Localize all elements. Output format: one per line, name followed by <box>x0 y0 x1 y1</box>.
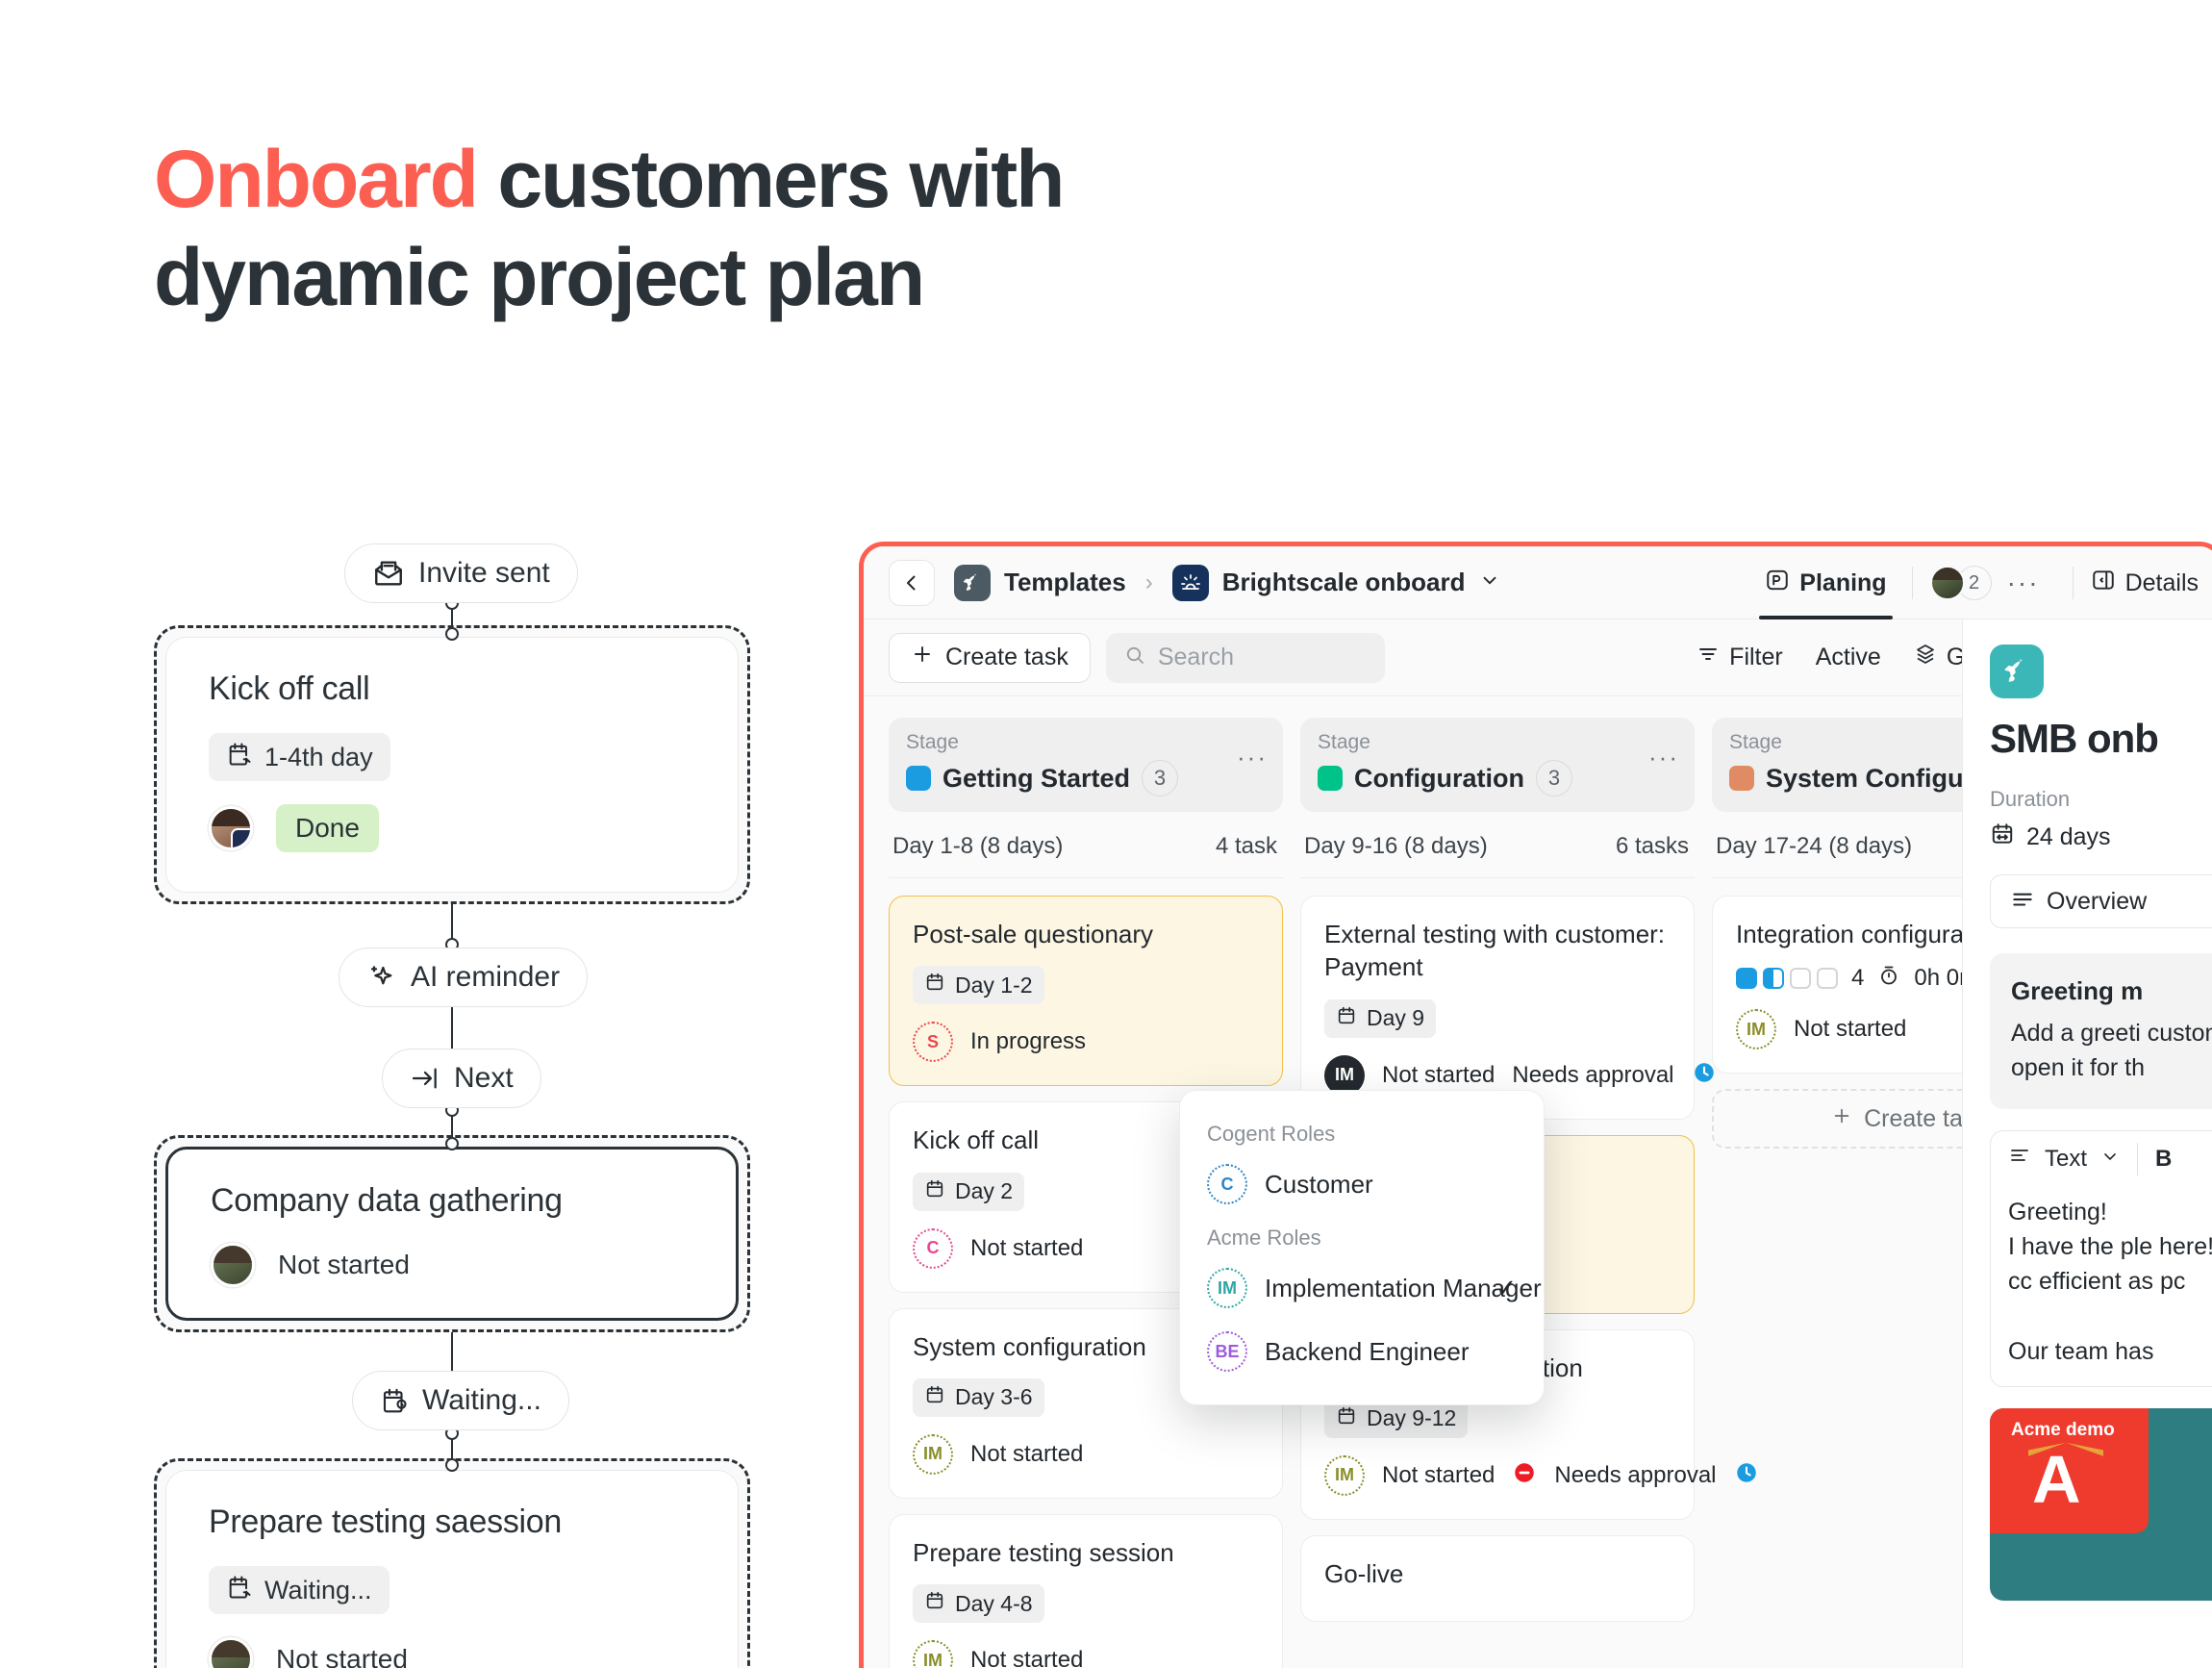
search-icon <box>1123 644 1146 671</box>
task-title: Post-sale questionary <box>913 918 1259 950</box>
task-day-tag: Day 1-2 <box>913 966 1044 1004</box>
calendar-icon <box>924 1384 945 1411</box>
chevron-down-icon[interactable] <box>2100 1146 2120 1173</box>
flow-connector <box>451 904 453 943</box>
task-day-tag: Day 2 <box>913 1173 1024 1211</box>
filter-button[interactable]: Filter <box>1697 643 1783 672</box>
text-icon <box>2008 1144 2031 1174</box>
task-day-text: Day 3-6 <box>955 1384 1033 1410</box>
blocked-icon <box>1512 1460 1537 1490</box>
flow-card-date-tag: Waiting... <box>209 1566 390 1614</box>
avatar[interactable] <box>209 806 253 850</box>
app-topbar: Templates › Brightscale onboard <box>864 546 2212 619</box>
role-avatar[interactable]: S <box>913 1022 953 1062</box>
stage-name: Configuration <box>1354 764 1524 794</box>
more-options-button[interactable]: ··· <box>1992 568 2055 598</box>
stage-count: 3 <box>1142 760 1178 796</box>
breadcrumb-item-templates[interactable]: Templates <box>1004 568 1126 597</box>
role-avatar: BE <box>1207 1331 1247 1372</box>
app-window: Templates › Brightscale onboard <box>859 542 2212 1668</box>
task-card[interactable]: External testing with customer: Payment … <box>1300 896 1695 1120</box>
flow-node <box>445 627 459 641</box>
task-status: Not started <box>1382 1062 1495 1089</box>
flow-card-date-text: Waiting... <box>264 1576 372 1605</box>
task-status: In progress <box>970 1028 1086 1055</box>
stage-name: Getting Started <box>943 764 1130 794</box>
tab-planing[interactable]: Planing <box>1757 546 1894 619</box>
search-input[interactable]: Search <box>1106 633 1385 683</box>
timer-icon <box>1877 964 1900 992</box>
flow-pill-invite-sent[interactable]: Invite sent <box>344 543 578 603</box>
flow-card-title: Company data gathering <box>211 1182 693 1220</box>
subtask-progress <box>1736 968 1838 989</box>
active-filter-button[interactable]: Active <box>1816 644 1881 671</box>
subtask-count: 4 <box>1851 965 1864 992</box>
avatar[interactable] <box>209 1637 253 1668</box>
flow-pill-ai-reminder[interactable]: AI reminder <box>339 948 588 1007</box>
flow-node <box>445 1458 459 1472</box>
breadcrumb: Templates › Brightscale onboard <box>954 565 1500 601</box>
task-status: Not started <box>1382 1462 1495 1489</box>
stage-range: Day 9-16 (8 days) <box>1304 833 1488 860</box>
chevron-down-icon[interactable] <box>1479 569 1500 595</box>
task-footer: IM Not started <box>913 1434 1259 1475</box>
calendar-icon <box>924 972 945 998</box>
panel-right-icon <box>2091 568 2116 599</box>
stage-more-button[interactable]: ··· <box>1648 743 1679 772</box>
details-panel: SMB onb Duration 24 days Overview Greeti… <box>1962 619 2212 1668</box>
role-avatar[interactable]: IM <box>1324 1455 1365 1496</box>
sunrise-icon[interactable] <box>1172 565 1209 601</box>
breadcrumb-item-project[interactable]: Brightscale onboard <box>1222 568 1466 597</box>
task-title: Prepare testing session <box>913 1536 1259 1569</box>
flow-card-date-tag: 1-4th day <box>209 733 390 781</box>
calendar-sync-icon <box>226 1574 253 1607</box>
details-label: Details <box>2125 569 2199 597</box>
flow-diagram: Invite sent Kick off call 1-4th day <box>0 0 789 1668</box>
flow-card-assignee-row: Not started <box>211 1243 693 1287</box>
task-card[interactable]: Go-live <box>1300 1535 1695 1622</box>
create-task-button[interactable]: Create task <box>889 633 1091 683</box>
sparkle-icon <box>366 962 397 993</box>
stage-header[interactable]: Stage Configuration 3 ··· <box>1300 718 1695 812</box>
task-day-text: Day 9-12 <box>1367 1405 1456 1431</box>
role-avatar[interactable]: IM <box>1736 1009 1776 1049</box>
stage-count: 3 <box>1536 760 1572 796</box>
task-footer: S In progress <box>913 1022 1259 1062</box>
duration-label: Duration <box>1990 787 2212 812</box>
flow-card-prepare-testing[interactable]: Prepare testing saession Waiting... Not … <box>165 1470 739 1668</box>
task-approval: Needs approval <box>1512 1062 1673 1089</box>
dropdown-item-label: Backend Engineer <box>1265 1337 1469 1367</box>
plus-icon <box>911 643 934 672</box>
arrow-to-end-icon <box>410 1063 440 1094</box>
stage-label: Stage <box>1318 731 1677 754</box>
calendar-icon <box>1336 1405 1357 1432</box>
rocket-icon <box>1990 644 2044 698</box>
stage-range: Day 17-24 (8 days) <box>1716 833 1912 860</box>
editor-bold-button[interactable]: B <box>2155 1146 2172 1173</box>
task-day-tag: Day 9 <box>1324 999 1436 1038</box>
flow-pill-label: Invite sent <box>418 557 550 590</box>
check-icon: ✓ <box>1496 1274 1517 1303</box>
tab-overview[interactable]: Overview <box>1990 874 2212 928</box>
tab-overview-label: Overview <box>2047 888 2147 916</box>
topbar-actions: Planing 2 ··· Details <box>1757 546 2199 619</box>
attachment-caption: Acme demo <box>2011 1420 2115 1441</box>
flow-card-title: Prepare testing saession <box>209 1504 695 1541</box>
stage-label: Stage <box>906 731 1266 754</box>
role-avatar: IM <box>1207 1268 1247 1308</box>
attachment-preview[interactable]: Acme demo A <box>1990 1408 2212 1601</box>
status-badge: Done <box>276 804 379 852</box>
stage-color-swatch <box>1729 766 1754 791</box>
dropdown-item-label: Customer <box>1265 1170 1373 1200</box>
flow-pill-next[interactable]: Next <box>382 1049 541 1108</box>
editor-style-label[interactable]: Text <box>2045 1146 2087 1173</box>
flow-card-date-text: 1-4th day <box>264 743 373 772</box>
stage-meta: Day 1-8 (8 days) 4 task <box>889 812 1283 878</box>
task-status: Not started <box>1794 1016 1906 1043</box>
stage-task-count: 6 tasks <box>1616 833 1689 860</box>
flow-pill-waiting[interactable]: Waiting... <box>352 1371 569 1430</box>
task-status: Not started <box>970 1441 1083 1468</box>
avatar[interactable] <box>211 1243 255 1287</box>
editor-toolbar: Text B <box>1991 1131 2212 1187</box>
status-text: Not started <box>278 1250 410 1280</box>
dropdown-group-title: Cogent Roles <box>1180 1112 1544 1152</box>
calendar-icon <box>1336 1005 1357 1032</box>
back-button[interactable] <box>889 560 935 606</box>
task-title: Go-live <box>1324 1557 1671 1590</box>
task-card[interactable]: Prepare testing session Day 4-8 IM Not s… <box>889 1514 1283 1668</box>
flow-pill-label: Next <box>454 1062 514 1095</box>
rich-text-editor[interactable]: Text B Greeting! I have the ple here!We'… <box>1990 1130 2212 1387</box>
flow-pill-label: Waiting... <box>422 1384 541 1417</box>
filter-label: Filter <box>1729 644 1783 671</box>
note-body: Add a greeti customer. It open it for th <box>2011 1016 2212 1086</box>
task-status: Not started <box>970 1235 1083 1262</box>
create-task-label: Create task <box>945 644 1068 671</box>
task-day-text: Day 4-8 <box>955 1591 1033 1617</box>
stage-range: Day 1-8 (8 days) <box>892 833 1063 860</box>
flow-node <box>445 1137 459 1150</box>
divider <box>2073 567 2074 599</box>
search-placeholder: Search <box>1158 644 1234 671</box>
duration-value: 24 days <box>2026 823 2111 851</box>
list-icon <box>2010 886 2035 918</box>
details-button[interactable]: Details <box>2091 568 2199 599</box>
flow-card-kick-off-call[interactable]: Kick off call 1-4th day Done <box>165 637 739 893</box>
flow-pill-label: AI reminder <box>411 961 560 994</box>
task-approval: Needs approval <box>1554 1462 1716 1489</box>
stage-color-swatch <box>906 766 931 791</box>
calendar-icon <box>924 1178 945 1205</box>
mail-open-icon <box>372 557 405 590</box>
task-day-text: Day 2 <box>955 1178 1013 1204</box>
role-avatar[interactable]: IM <box>913 1640 953 1668</box>
members-group[interactable]: 2 <box>1930 566 1992 600</box>
task-title: External testing with customer: Payment <box>1324 918 1671 984</box>
planning-icon <box>1765 568 1790 599</box>
flow-card-company-data-gathering[interactable]: Company data gathering Not started <box>165 1147 739 1321</box>
role-avatar[interactable]: IM <box>913 1434 953 1475</box>
status-text: Not started <box>276 1644 408 1668</box>
stage-task-count: 4 task <box>1216 833 1277 860</box>
stage-header[interactable]: Stage Getting Started 3 ··· <box>889 718 1283 812</box>
attachment-logo-letter: A <box>2032 1453 2081 1506</box>
divider <box>2137 1143 2138 1175</box>
rocket-icon[interactable] <box>954 565 991 601</box>
dropdown-item-backend-engineer[interactable]: BE Backend Engineer <box>1180 1320 1544 1383</box>
task-footer: IM Not started Needs approval <box>1324 1455 1671 1496</box>
plus-icon <box>1831 1105 1852 1133</box>
calendar-icon <box>924 1590 945 1617</box>
task-footer: IM Not started <box>913 1640 1259 1668</box>
calendar-sync-icon <box>226 741 253 774</box>
details-panel-title: SMB onb <box>1990 716 2212 762</box>
task-day-tag: Day 3-6 <box>913 1378 1044 1417</box>
note-title: Greeting m <box>2011 976 2212 1006</box>
role-avatar: C <box>1207 1164 1247 1204</box>
flow-connector <box>451 1332 453 1371</box>
task-card[interactable]: Post-sale questionary Day 1-2 S In progr… <box>889 896 1283 1086</box>
task-status: Not started <box>970 1647 1083 1668</box>
chevron-left-icon <box>900 571 923 594</box>
stage-meta: Day 9-16 (8 days) 6 tasks <box>1300 812 1695 878</box>
editor-content[interactable]: Greeting! I have the ple here!We're cc e… <box>1991 1187 2212 1386</box>
active-label: Active <box>1816 644 1881 671</box>
flow-card-title: Kick off call <box>209 670 695 708</box>
flow-card-assignee-row: Done <box>209 804 695 852</box>
breadcrumb-separator: › <box>1145 569 1153 596</box>
task-day-text: Day 1-2 <box>955 973 1033 998</box>
dropdown-item-implementation-manager[interactable]: IM Implementation Manager ✓ <box>1180 1256 1544 1320</box>
stage-more-button[interactable]: ··· <box>1237 743 1268 772</box>
note-block: Greeting m Add a greeti customer. It ope… <box>1990 953 2212 1109</box>
calendar-clock-icon <box>380 1386 409 1415</box>
divider <box>1912 567 1913 599</box>
layers-icon <box>1914 643 1937 672</box>
avatar <box>1930 566 1965 600</box>
role-dropdown-menu[interactable]: Cogent Roles C Customer Acme Roles IM Im… <box>1179 1090 1545 1405</box>
filter-icon <box>1697 643 1720 672</box>
flow-connector <box>451 1007 453 1049</box>
task-day-tag: Day 4-8 <box>913 1584 1044 1623</box>
dropdown-item-customer[interactable]: C Customer <box>1180 1152 1544 1216</box>
role-avatar[interactable]: C <box>913 1228 953 1269</box>
stage-color-swatch <box>1318 766 1343 791</box>
calendar-range-icon <box>1990 821 2015 853</box>
page-root: Onboard customers with dynamic project p… <box>0 0 2212 1668</box>
duration-value-row: 24 days <box>1990 821 2212 853</box>
flow-card-assignee-row: Not started <box>209 1637 695 1668</box>
dropdown-group-title: Acme Roles <box>1180 1216 1544 1256</box>
tab-planing-label: Planing <box>1799 569 1886 597</box>
task-day-text: Day 9 <box>1367 1005 1424 1031</box>
